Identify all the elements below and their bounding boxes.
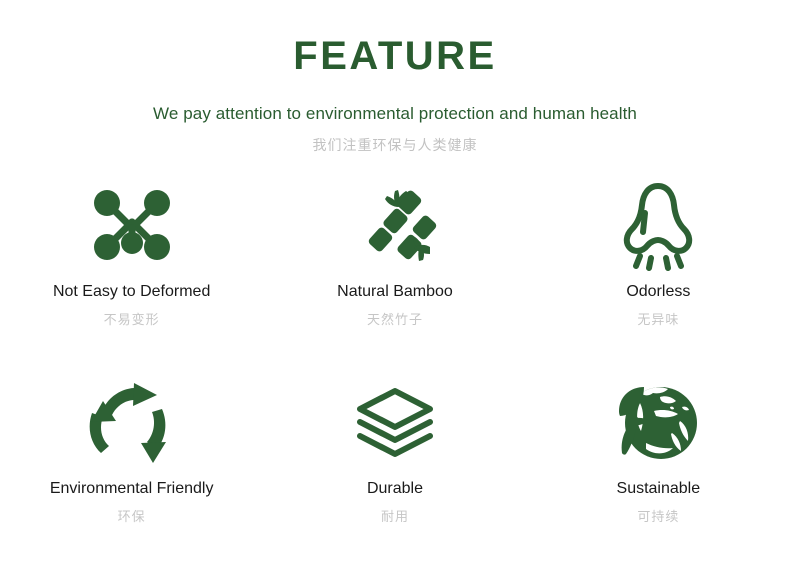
feature-label-english: Not Easy to Deformed — [53, 282, 210, 301]
subtitle-english: We pay attention to environmental protec… — [0, 78, 790, 124]
feature-label-chinese: 天然竹子 — [367, 312, 423, 328]
feature-label-english: Environmental Friendly — [50, 479, 214, 498]
feature-label-english: Natural Bamboo — [337, 282, 453, 301]
feature-item-not-easy-to-deformed: Not Easy to Deformed 不易变形 — [0, 177, 263, 373]
feature-item-natural-bamboo: Natural Bamboo 天然竹子 — [263, 177, 526, 373]
feature-item-environmental-friendly: Environmental Friendly 环保 — [0, 373, 263, 569]
section-header: FEATURE We pay attention to environmenta… — [0, 0, 790, 155]
feature-label-chinese: 无异味 — [637, 312, 679, 328]
subtitle-chinese: 我们注重环保与人类健康 — [0, 124, 790, 155]
feature-label-chinese: 耐用 — [381, 509, 409, 525]
feature-label-english: Sustainable — [617, 479, 701, 498]
feature-item-sustainable: Sustainable 可持续 — [527, 373, 790, 569]
feature-label-chinese: 环保 — [118, 509, 146, 525]
feature-label-chinese: 不易变形 — [104, 312, 160, 328]
feature-item-durable: Durable 耐用 — [263, 373, 526, 569]
globe-leaf-icon — [616, 373, 700, 473]
feature-item-odorless: Odorless 无异味 — [527, 177, 790, 373]
feature-label-chinese: 可持续 — [637, 509, 679, 525]
layers-stack-icon — [352, 373, 438, 473]
feature-label-english: Odorless — [626, 282, 690, 301]
nose-icon — [618, 177, 698, 273]
lattice-nodes-icon — [90, 177, 174, 273]
bamboo-icon — [353, 177, 437, 273]
feature-label-english: Durable — [367, 479, 423, 498]
feature-section: FEATURE We pay attention to environmenta… — [0, 0, 790, 576]
feature-grid: Not Easy to Deformed 不易变形 — [0, 177, 790, 569]
page-title: FEATURE — [0, 34, 790, 78]
recycle-icon — [89, 373, 175, 473]
